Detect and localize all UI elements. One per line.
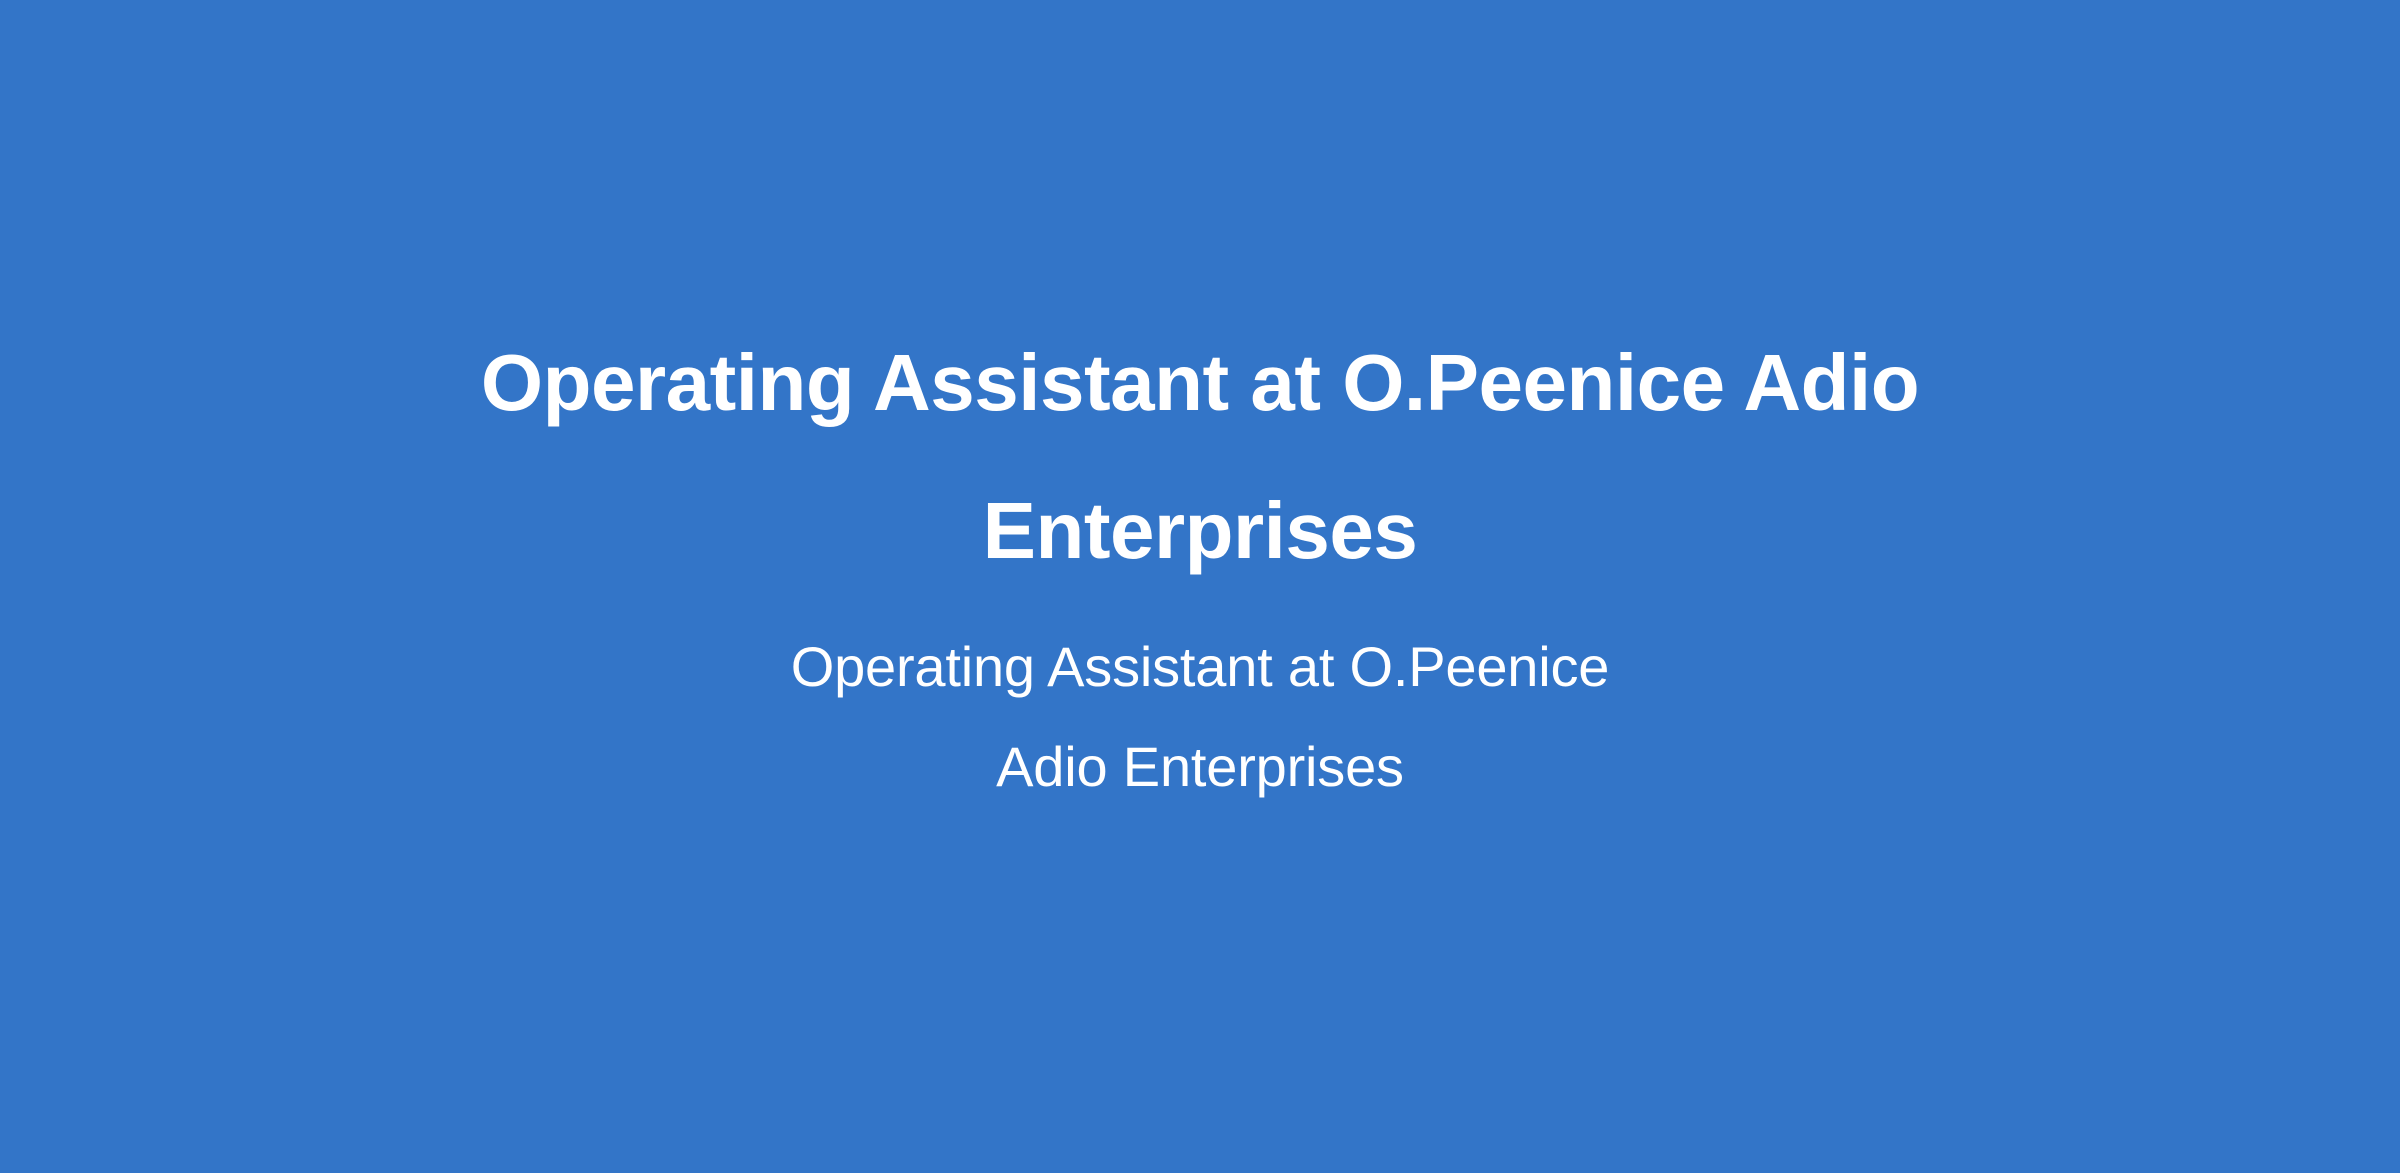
open-graph-card: Operating Assistant at O.Peenice Adio En… — [0, 0, 2400, 1173]
page-title: Operating Assistant at O.Peenice Adio En… — [440, 309, 1960, 605]
card-content-stack: Operating Assistant at O.Peenice Adio En… — [0, 309, 2400, 817]
page-subtitle: Operating Assistant at O.Peenice Adio En… — [740, 617, 1660, 817]
